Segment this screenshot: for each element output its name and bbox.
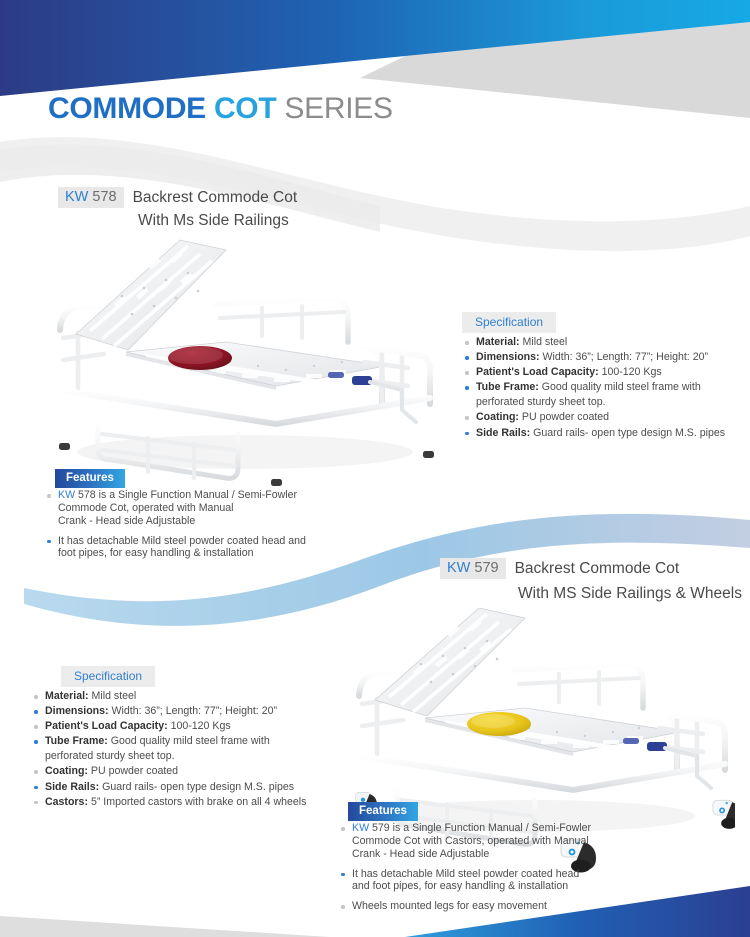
product-heading-578: KW 578Backrest Commode Cot With Ms Side … [58, 187, 297, 230]
feature-item-cont: foot pipes, for easy handling & installa… [46, 547, 336, 561]
spec-item: Tube Frame: Good quality mild steel fram… [33, 735, 333, 749]
feature-item: It has detachable Mild steel powder coat… [46, 535, 336, 549]
feature-item-cont: Commode Cot, operated with Manual Crank … [46, 502, 336, 529]
product-image-578 [30, 238, 450, 508]
features-list-578: KW 578 is a Single Function Manual / Sem… [46, 489, 336, 567]
feature-item: KW 578 is a Single Function Manual / Sem… [46, 489, 336, 503]
feature-item-cont: Commode Cot with Castors, operated with … [340, 835, 640, 862]
page-title: COMMODE COT SERIES [48, 92, 393, 126]
spec-item: Material: Mild steel [33, 690, 333, 704]
feature-item: KW 579 is a Single Function Manual / Sem… [340, 822, 640, 836]
spec-item: Patient's Load Capacity: 100-120 Kgs [33, 720, 333, 734]
product-subtitle-579: With MS Side Railings & Wheels [518, 585, 742, 603]
spec-item: Patient's Load Capacity: 100-120 Kgs [464, 366, 744, 380]
spec-item: Tube Frame: Good quality mild steel fram… [464, 381, 744, 395]
feature-item-cont: and foot pipes, for easy handling & inst… [340, 880, 640, 894]
spec-item-cont: perforated sturdy sheet top. [464, 396, 744, 410]
spec-label-579: Specification [61, 666, 155, 687]
spec-item: Coating: PU powder coated [33, 765, 333, 779]
features-list-579: KW 579 is a Single Function Manual / Sem… [340, 822, 640, 920]
castor-wheel [713, 800, 735, 829]
spec-list-578: Material: Mild steel Dimensions: Width: … [464, 336, 744, 442]
title-commode: COMMODE [48, 92, 206, 125]
spec-item: Dimensions: Width: 36”; Length: 77”; Hei… [464, 351, 744, 365]
spec-item: Dimensions: Width: 36”; Length: 77”; Hei… [33, 705, 333, 719]
spec-label-578: Specification [462, 312, 556, 333]
spec-item-cont: perforated sturdy sheet top. [33, 750, 333, 764]
spec-item: Material: Mild steel [464, 336, 744, 350]
product-code-chip-579: KW 579 [440, 558, 506, 579]
spec-list-579: Material: Mild steel Dimensions: Width: … [33, 690, 333, 811]
spec-item: Coating: PU powder coated [464, 411, 744, 425]
features-label-579: Features [348, 802, 418, 821]
product-code-chip-578: KW 578 [58, 187, 124, 208]
features-label-578: Features [55, 469, 125, 488]
product-name-578: Backrest Commode Cot [124, 189, 298, 207]
title-series: SERIES [284, 92, 392, 125]
product-subtitle-578: With Ms Side Railings [138, 212, 297, 230]
spec-item: Side Rails: Guard rails- open type desig… [464, 427, 744, 441]
spec-item: Side Rails: Guard rails- open type desig… [33, 781, 333, 795]
title-cot: COT [214, 92, 276, 125]
catalog-page: COMMODE COT SERIES KW 578Backrest Commod… [0, 0, 750, 937]
product-heading-579: KW 579Backrest Commode Cot With MS Side … [440, 558, 742, 603]
feature-item: It has detachable Mild steel powder coat… [340, 868, 640, 882]
feature-item: Wheels mounted legs for easy movement [340, 900, 640, 914]
spec-item: Castors: 5” Imported castors with brake … [33, 796, 333, 810]
product-name-579: Backrest Commode Cot [506, 560, 680, 578]
